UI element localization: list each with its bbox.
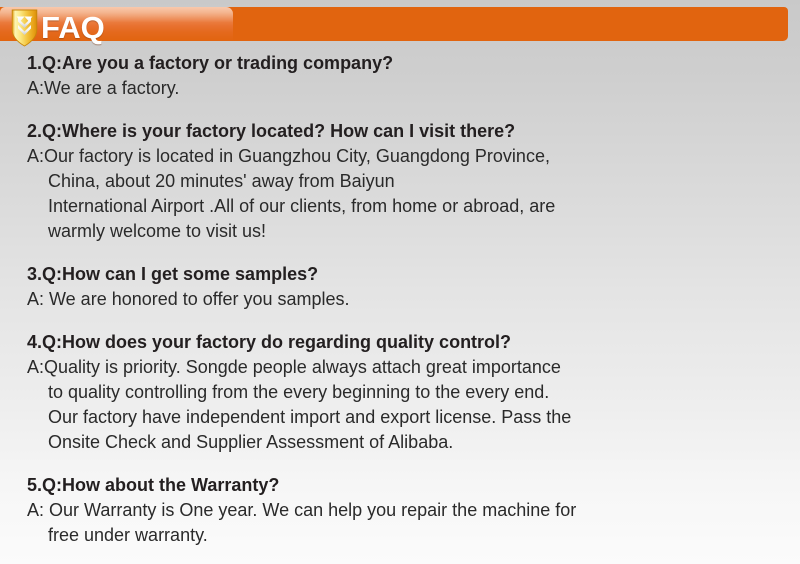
faq-header-bar: FAQ bbox=[0, 7, 788, 41]
faq-item: 5.Q:How about the Warranty? A: Our Warra… bbox=[0, 472, 800, 548]
faq-answer-line: A:We are a factory. bbox=[27, 76, 800, 101]
faq-item: 2.Q:Where is your factory located? How c… bbox=[0, 118, 800, 244]
faq-answer-line: Our factory have independent import and … bbox=[27, 405, 800, 430]
faq-answer-line: China, about 20 minutes' away from Baiyu… bbox=[27, 169, 800, 194]
faq-question: 2.Q:Where is your factory located? How c… bbox=[0, 118, 800, 144]
faq-answer: A:We are a factory. bbox=[0, 76, 800, 101]
faq-answer: A: Our Warranty is One year. We can help… bbox=[0, 498, 800, 548]
faq-answer-line: International Airport .All of our client… bbox=[27, 194, 800, 219]
faq-answer-line: to quality controlling from the every be… bbox=[27, 380, 800, 405]
faq-answer-line: A:Quality is priority. Songde people alw… bbox=[27, 355, 800, 380]
faq-answer-line: free under warranty. bbox=[27, 523, 800, 548]
faq-answer-line: A:Our factory is located in Guangzhou Ci… bbox=[27, 144, 800, 169]
faq-answer-line: Onsite Check and Supplier Assessment of … bbox=[27, 430, 800, 455]
shield-chevrons-icon bbox=[11, 9, 38, 47]
page-title: FAQ bbox=[41, 8, 105, 48]
faq-question: 3.Q:How can I get some samples? bbox=[0, 261, 800, 287]
faq-item: 3.Q:How can I get some samples? A: We ar… bbox=[0, 261, 800, 312]
faq-answer: A:Quality is priority. Songde people alw… bbox=[0, 355, 800, 455]
faq-answer: A: We are honored to offer you samples. bbox=[0, 287, 800, 312]
faq-list: 1.Q:Are you a factory or trading company… bbox=[0, 50, 800, 548]
faq-answer-line: warmly welcome to visit us! bbox=[27, 219, 800, 244]
faq-question: 5.Q:How about the Warranty? bbox=[0, 472, 800, 498]
faq-question: 4.Q:How does your factory do regarding q… bbox=[0, 329, 800, 355]
faq-answer-line: A: We are honored to offer you samples. bbox=[27, 287, 800, 312]
faq-question: 1.Q:Are you a factory or trading company… bbox=[0, 50, 800, 76]
faq-page: FAQ 1.Q:Are you a factory or trading com… bbox=[0, 0, 800, 564]
faq-item: 4.Q:How does your factory do regarding q… bbox=[0, 329, 800, 455]
faq-item: 1.Q:Are you a factory or trading company… bbox=[0, 50, 800, 101]
faq-answer: A:Our factory is located in Guangzhou Ci… bbox=[0, 144, 800, 244]
faq-answer-line: A: Our Warranty is One year. We can help… bbox=[27, 498, 800, 523]
